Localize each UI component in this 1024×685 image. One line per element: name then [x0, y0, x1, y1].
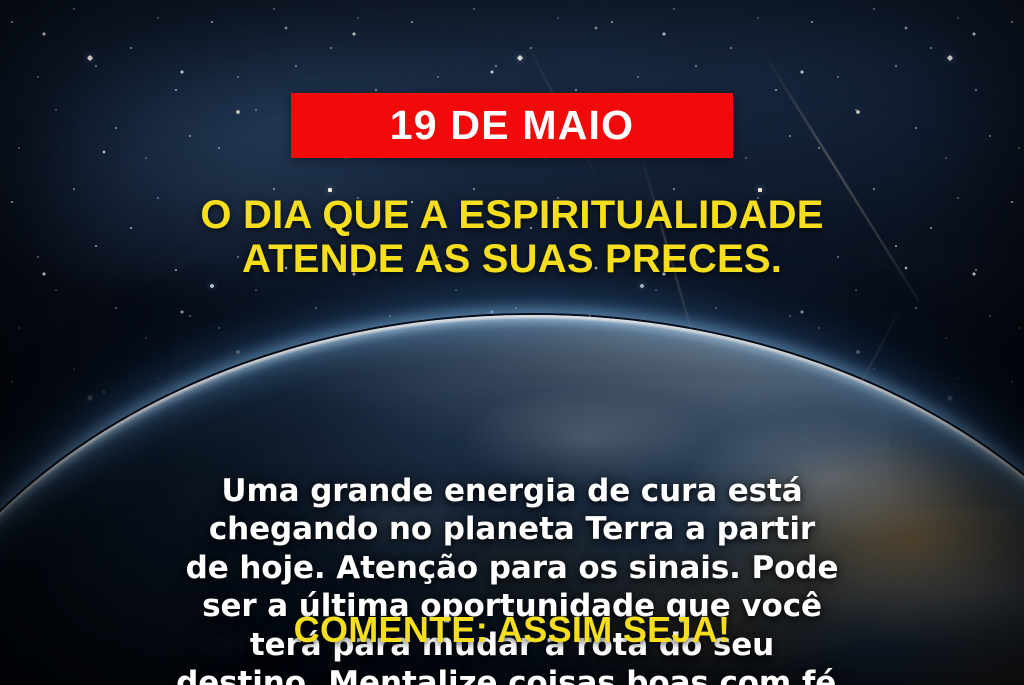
date-banner-text: 19 DE MAIO: [390, 105, 634, 146]
headline: O DIA QUE A ESPIRITUALIDADE ATENDE AS SU…: [72, 193, 952, 281]
body-copy: Uma grande energia de cura está chegando…: [62, 472, 962, 685]
poster-content: 19 DE MAIO O DIA QUE A ESPIRITUALIDADE A…: [0, 0, 1024, 685]
poster-canvas: 19 DE MAIO O DIA QUE A ESPIRITUALIDADE A…: [0, 0, 1024, 685]
body-line-6: destino. Mentalize coisas boas com fé.: [62, 664, 962, 685]
headline-line-2: ATENDE AS SUAS PRECES.: [72, 237, 952, 281]
call-to-action-text: COMENTE: ASSIM SEJA!: [294, 612, 731, 648]
headline-line-1: O DIA QUE A ESPIRITUALIDADE: [72, 193, 952, 237]
body-line-3: de hoje. Atenção para os sinais. Pode: [62, 549, 962, 587]
body-line-1: Uma grande energia de cura está: [62, 472, 962, 510]
body-line-2: chegando no planeta Terra a partir: [62, 510, 962, 548]
date-banner: 19 DE MAIO: [291, 93, 733, 158]
